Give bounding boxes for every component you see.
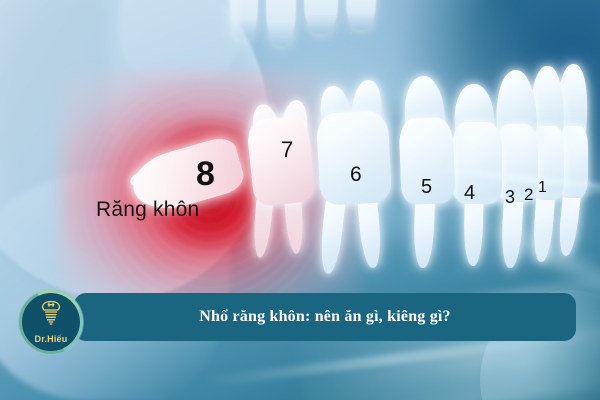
tooth-number-8: 8 — [196, 157, 215, 191]
tooth-number-4: 4 — [464, 183, 475, 203]
tooth-number-2: 2 — [524, 186, 533, 203]
mandible-ramus — [120, 0, 240, 80]
tooth-number-1: 1 — [538, 180, 547, 196]
wisdom-tooth-label: Răng khôn — [96, 198, 199, 222]
tooth-number-7: 7 — [281, 139, 293, 161]
xray-banner-image: 8 7 6 5 4 3 2 1 Răng khôn Nhổ răng khôn:… — [0, 0, 600, 400]
tooth-number-5: 5 — [421, 177, 432, 197]
tooth-4-crown — [452, 122, 502, 204]
banner-title-text: Nhổ răng khôn: nên ăn gì, kiêng gì? — [199, 308, 451, 326]
tooth-number-6: 6 — [350, 164, 362, 185]
tooth-6-crown — [316, 110, 393, 206]
tooth-number-3: 3 — [505, 188, 515, 206]
title-banner: Nhổ răng khôn: nên ăn gì, kiêng gì? — [74, 293, 576, 341]
